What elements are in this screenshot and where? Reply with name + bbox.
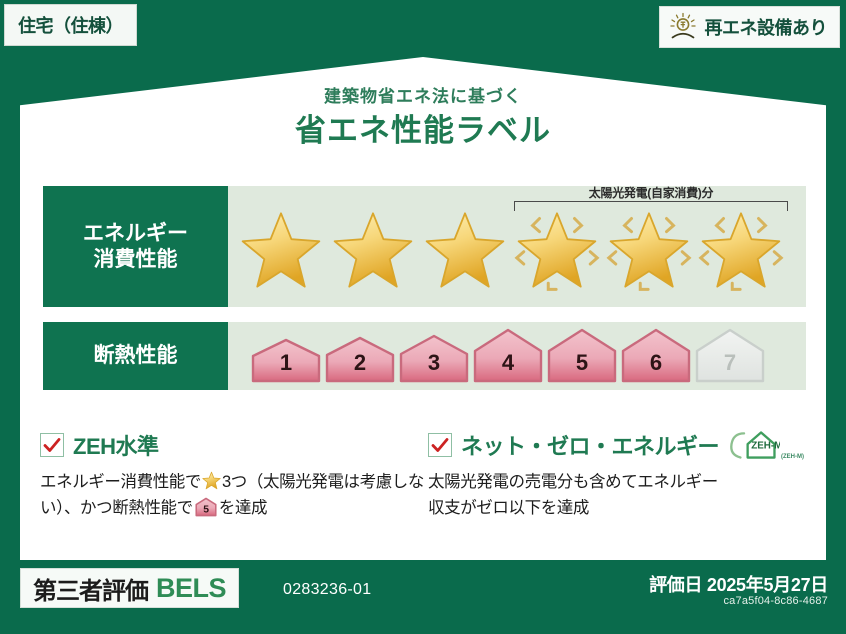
- zeh-checkbox[interactable]: [40, 433, 64, 457]
- star-icon: [423, 210, 507, 290]
- inline-house-badge: 5: [195, 497, 217, 517]
- zeh-desc-part4: を達成: [219, 499, 267, 517]
- insulation-level-number: 2: [324, 350, 396, 376]
- star-rating: [236, 208, 786, 292]
- renewable-energy-badge: 再エネ設備あり: [659, 6, 841, 48]
- insulation-scale: 1 2 3 4: [250, 328, 766, 384]
- zeh-desc-part2: 3つ（太陽光発電: [222, 473, 343, 491]
- insulation-level-item: 6: [620, 328, 692, 384]
- inline-star-icon: [202, 471, 221, 490]
- star-item: [328, 208, 418, 292]
- insulation-level-number: 1: [250, 350, 322, 376]
- insulation-performance-row: 断熱性能: [43, 322, 806, 390]
- building-type-label: 住宅（住棟）: [18, 12, 123, 38]
- insulation-performance-body: 1 2 3 4: [228, 322, 806, 390]
- zeh-m-logo-subtext: (ZEH-M): [781, 454, 804, 460]
- zeh-m-house-icon: ZEH-M: [726, 428, 780, 462]
- svg-text:5: 5: [203, 505, 209, 516]
- solar-annotation-label: 太陽光発電(自家消費)分: [514, 184, 788, 201]
- evaluation-date: 評価日 2025年5月27日: [649, 571, 828, 597]
- bels-jp-label: 第三者評価: [33, 571, 148, 606]
- energy-label-line2: 消費性能: [94, 247, 178, 273]
- label-subtitle: 建築物省エネ法に基づく: [0, 82, 846, 107]
- net-zero-criteria-header: ネット・ゼロ・エネルギー ZEH-M (ZEH-M): [428, 430, 818, 460]
- check-icon: [42, 435, 62, 455]
- building-type-tag: 住宅（住棟）: [4, 4, 137, 46]
- zeh-m-logo-text: ZEH-M: [751, 441, 780, 452]
- zeh-criteria-description: エネルギー消費性能で3つ（太陽光発電は考慮しない）、かつ断熱性能で5を達成: [40, 469, 430, 521]
- zeh-desc-part1: エネルギー消費性能で: [40, 473, 201, 491]
- bels-certification-box: 第三者評価 BELS: [20, 568, 239, 608]
- zeh-criteria-block: ZEH水準 エネルギー消費性能で3つ（太陽光発電は考慮しない）、かつ断熱性能で5…: [40, 430, 430, 521]
- net-zero-criteria-description: 太陽光発電の売電分も含めてエネルギー 収支がゼロ以下を達成: [428, 469, 818, 521]
- insulation-level-number: 3: [398, 350, 470, 376]
- insulation-level-number: 6: [620, 350, 692, 376]
- insulation-level-item: 2: [324, 336, 396, 384]
- star-icon: [331, 210, 415, 290]
- renewable-badge-label: 再エネ設備あり: [705, 14, 828, 40]
- insulation-level-number: 5: [546, 350, 618, 376]
- insulation-performance-label: 断熱性能: [43, 322, 228, 390]
- star-item: [420, 208, 510, 292]
- insulation-level-number: 7: [694, 350, 766, 376]
- star-icon: [239, 210, 323, 290]
- zeh-criteria-title: ZEH水準: [73, 429, 159, 461]
- sun-icon: [668, 12, 698, 42]
- insulation-level-item: 3: [398, 334, 470, 384]
- net-zero-criteria-block: ネット・ゼロ・エネルギー ZEH-M (ZEH-M) 太陽光発電の売電分も含めて…: [428, 430, 818, 521]
- net-zero-desc-line1: 太陽光発電の売電分も含めてエネルギー: [428, 469, 818, 495]
- energy-label-line1: エネルギー: [83, 221, 188, 247]
- insulation-level-number: 4: [472, 350, 544, 376]
- net-zero-checkbox[interactable]: [428, 433, 452, 457]
- bels-en-label: BELS: [156, 573, 226, 604]
- star-item: [236, 208, 326, 292]
- insulation-label-text: 断熱性能: [94, 343, 178, 369]
- insulation-level-item-inactive: 7: [694, 328, 766, 384]
- insulation-level-item: 4: [472, 328, 544, 384]
- net-zero-desc-line2: 収支がゼロ以下を達成: [428, 495, 818, 521]
- star-item-solar: [696, 208, 786, 292]
- check-icon: [430, 435, 450, 455]
- star-icon: [699, 210, 783, 290]
- star-icon: [515, 210, 599, 290]
- insulation-level-item: 5: [546, 328, 618, 384]
- zeh-m-logo: ZEH-M (ZEH-M): [726, 428, 804, 462]
- energy-performance-row: エネルギー 消費性能 太陽光発電(自家消費)分: [43, 186, 806, 307]
- label-title: 省エネ性能ラベル: [0, 105, 846, 150]
- star-item-solar: [512, 208, 602, 292]
- star-item-solar: [604, 208, 694, 292]
- star-icon: [607, 210, 691, 290]
- insulation-level-item: 1: [250, 338, 322, 384]
- energy-performance-body: 太陽光発電(自家消費)分: [228, 186, 806, 307]
- bels-certificate-number: 0283236-01: [283, 581, 371, 599]
- energy-performance-label: エネルギー 消費性能: [43, 186, 228, 307]
- net-zero-criteria-title: ネット・ゼロ・エネルギー: [461, 429, 719, 461]
- zeh-criteria-header: ZEH水準: [40, 430, 430, 460]
- bels-energy-label: 住宅（住棟） 再エネ設備あり 建築物省エネ法に基づく 省エ: [0, 0, 846, 634]
- evaluation-id: ca7a5f04-8c86-4687: [723, 595, 828, 607]
